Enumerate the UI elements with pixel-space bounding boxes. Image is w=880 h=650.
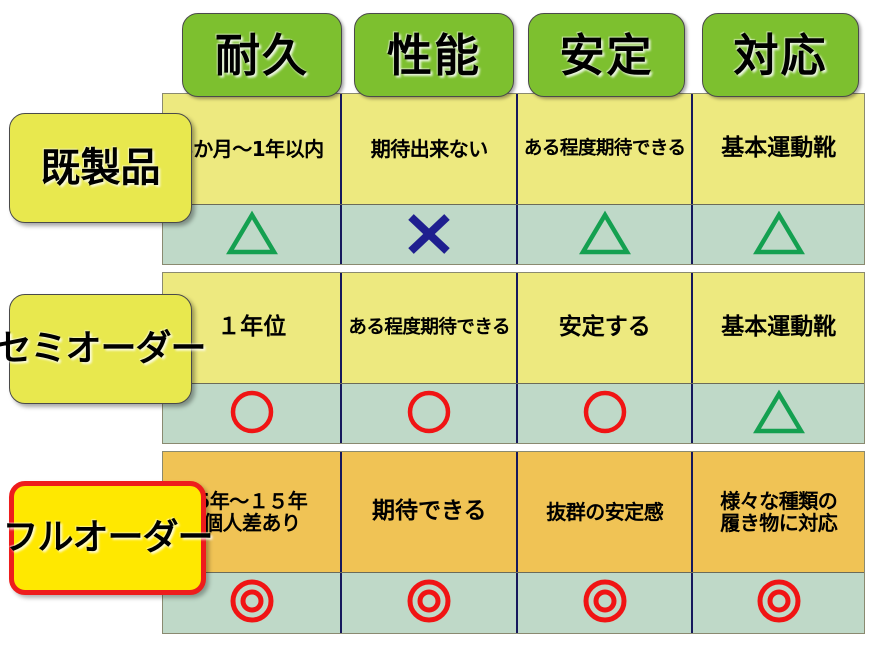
cell-text: 3か月～1年以内 bbox=[178, 138, 326, 160]
rating-cell bbox=[518, 573, 694, 633]
circle-icon bbox=[403, 388, 455, 440]
table-cell: 安定する bbox=[518, 273, 694, 383]
column-header-label: 耐久 bbox=[215, 33, 309, 78]
table-cell: 様々な種類の 履き物に対応 bbox=[693, 452, 864, 572]
column-header-label: 安定 bbox=[559, 33, 653, 78]
cell-text: 抜群の安定感 bbox=[544, 501, 665, 523]
cross-icon bbox=[403, 209, 455, 261]
circle-icon bbox=[579, 388, 631, 440]
column-header-performance[interactable]: 性能 bbox=[354, 13, 514, 97]
row-label-text: 既製品 bbox=[41, 148, 161, 188]
table-row-full-order: 5年～１５年 個人差あり 期待できる 抜群の安定感 様々な種類の 履き物に対応 bbox=[162, 451, 865, 634]
cell-text: ある程度期待できる bbox=[522, 139, 688, 160]
column-header-label: 対応 bbox=[733, 33, 827, 78]
triangle-icon bbox=[226, 209, 278, 261]
circle-icon bbox=[226, 388, 278, 440]
rating-cell bbox=[693, 573, 864, 633]
column-header-stability[interactable]: 安定 bbox=[528, 13, 685, 97]
table-cell: 期待できる bbox=[342, 452, 518, 572]
triangle-icon bbox=[579, 209, 631, 261]
double-circle-icon bbox=[403, 577, 455, 629]
row-label-semi-order[interactable]: セミオーダー bbox=[9, 294, 192, 404]
table-cell: 抜群の安定感 bbox=[518, 452, 694, 572]
row-label-text: セミオーダー bbox=[0, 331, 206, 367]
cell-text: 安定する bbox=[557, 315, 653, 341]
text-row: 5年～１５年 個人差あり 期待できる 抜群の安定感 様々な種類の 履き物に対応 bbox=[163, 452, 864, 572]
table-cell: 期待出来ない bbox=[342, 94, 518, 204]
rating-cell bbox=[342, 205, 518, 264]
rating-cell bbox=[342, 384, 518, 443]
column-header-durability[interactable]: 耐久 bbox=[182, 13, 342, 97]
triangle-icon bbox=[753, 209, 805, 261]
cell-text: 基本運動靴 bbox=[719, 136, 838, 162]
rating-cell bbox=[518, 205, 694, 264]
table-row-ready-made: 3か月～1年以内 期待出来ない ある程度期待できる 基本運動靴 bbox=[162, 93, 865, 265]
table-row-semi-order: １年位 ある程度期待できる 安定する 基本運動靴 bbox=[162, 272, 865, 444]
comparison-table: 耐久 性能 安定 対応 既製品 セミオーダー フルオーダー 3か月～1年以内 期… bbox=[0, 0, 880, 650]
rating-cell bbox=[518, 384, 694, 443]
cell-text: ある程度期待できる bbox=[346, 318, 512, 339]
cell-text: １年位 bbox=[215, 315, 288, 341]
row-label-text: フルオーダー bbox=[3, 520, 213, 556]
double-circle-icon bbox=[579, 577, 631, 629]
table-cell: ある程度期待できる bbox=[518, 94, 694, 204]
cell-text: 期待できる bbox=[370, 499, 489, 525]
column-header-label: 性能 bbox=[387, 33, 481, 78]
table-cell: 基本運動靴 bbox=[693, 94, 864, 204]
symbol-row bbox=[163, 204, 864, 264]
cell-text: 基本運動靴 bbox=[719, 315, 838, 341]
rating-cell bbox=[693, 384, 864, 443]
rating-cell bbox=[693, 205, 864, 264]
double-circle-icon bbox=[753, 577, 805, 629]
text-row: 3か月～1年以内 期待出来ない ある程度期待できる 基本運動靴 bbox=[163, 94, 864, 204]
cell-text: 様々な種類の 履き物に対応 bbox=[718, 490, 839, 535]
symbol-row bbox=[163, 572, 864, 633]
rating-cell bbox=[342, 573, 518, 633]
column-header-adaptation[interactable]: 対応 bbox=[702, 13, 859, 97]
double-circle-icon bbox=[226, 577, 278, 629]
table-cell: 基本運動靴 bbox=[693, 273, 864, 383]
cell-text: 期待出来ない bbox=[369, 138, 490, 160]
row-label-ready-made[interactable]: 既製品 bbox=[9, 113, 192, 223]
row-label-full-order[interactable]: フルオーダー bbox=[9, 481, 206, 595]
text-row: １年位 ある程度期待できる 安定する 基本運動靴 bbox=[163, 273, 864, 383]
symbol-row bbox=[163, 383, 864, 443]
table-cell: ある程度期待できる bbox=[342, 273, 518, 383]
triangle-icon bbox=[753, 388, 805, 440]
